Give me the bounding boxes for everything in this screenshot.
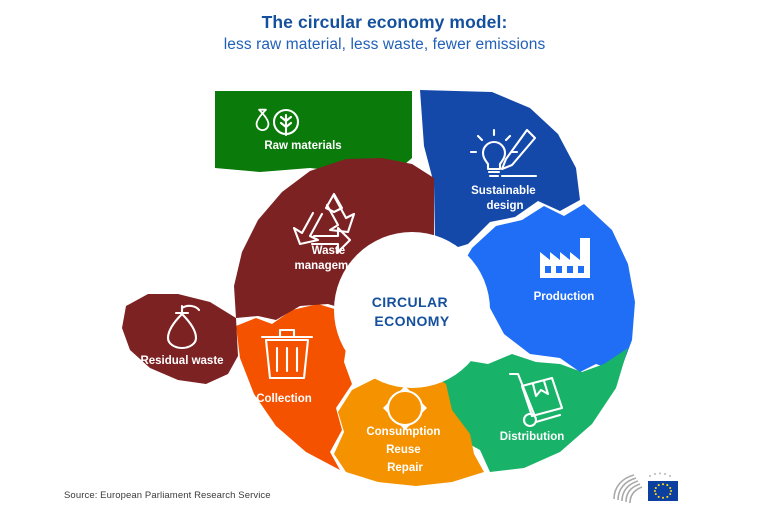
page-title: The circular economy model: less raw mat… <box>0 10 769 56</box>
segment-label-production: Production <box>534 291 595 303</box>
source-note: Source: European Parliament Research Ser… <box>64 490 271 501</box>
segment-label-residual-waste: Residual waste <box>140 355 223 367</box>
segment-label-raw-materials: Raw materials <box>264 140 341 152</box>
circular-economy-wheel: Raw materials Sustainable design <box>60 72 680 492</box>
title-line-1: The circular economy model: <box>0 10 769 34</box>
segment-label-collection: Collection <box>256 393 312 405</box>
center-hub <box>334 232 490 388</box>
european-parliament-logo <box>612 470 696 504</box>
segment-label-distribution: Distribution <box>500 431 565 443</box>
infographic-page: The circular economy model: less raw mat… <box>0 0 769 513</box>
segment-collection[interactable]: Collection <box>236 304 352 470</box>
segment-production[interactable]: Production <box>465 204 635 372</box>
title-line-2: less raw material, less waste, fewer emi… <box>0 34 769 56</box>
